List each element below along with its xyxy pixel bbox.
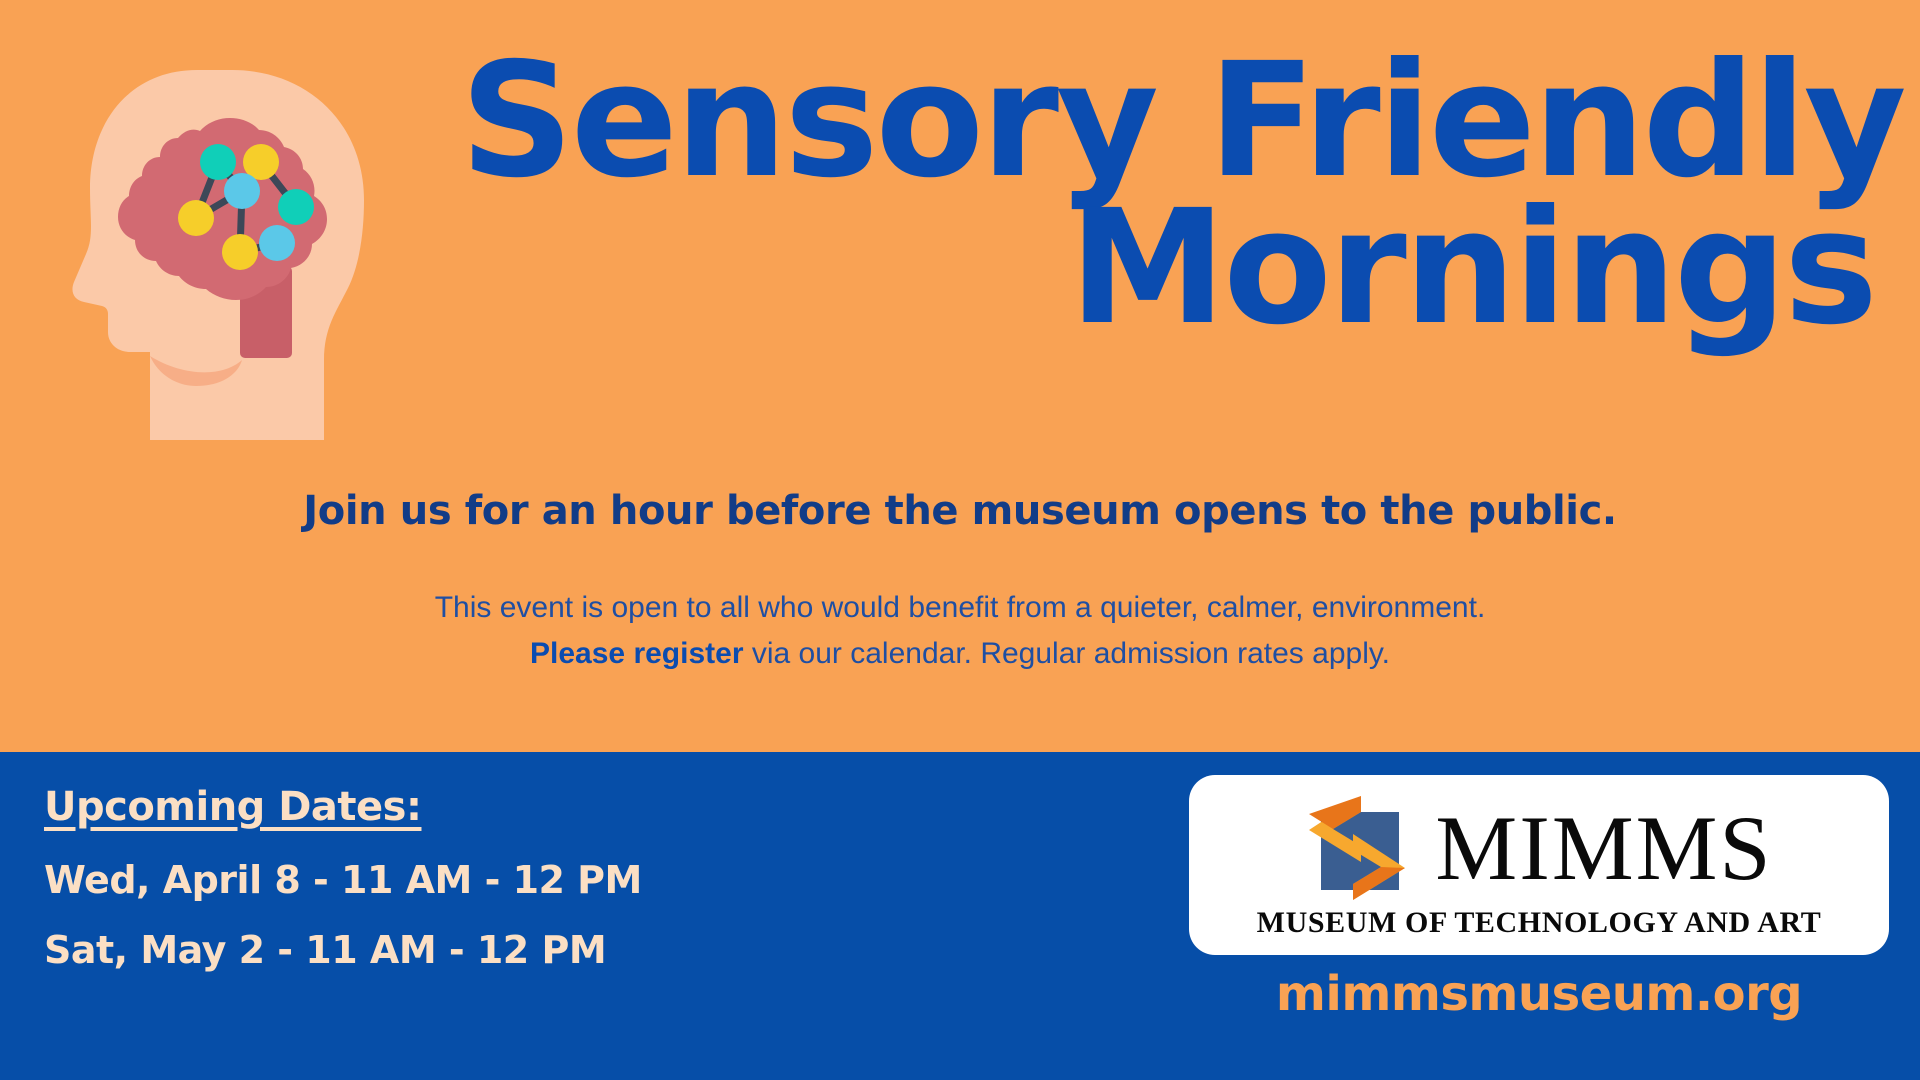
please-register-text: Please register bbox=[530, 637, 743, 670]
mimms-wordmark: MIMMS bbox=[1435, 802, 1772, 894]
body-line-one: This event is open to all who would bene… bbox=[0, 585, 1920, 631]
title-line-two: Mornings bbox=[430, 195, 1885, 342]
date-row: Sat, May 2 - 11 AM - 12 PM bbox=[44, 928, 864, 972]
hero-section: Sensory Friendly Mornings Join us for an… bbox=[0, 0, 1920, 752]
date-row: Wed, April 8 - 11 AM - 12 PM bbox=[44, 858, 864, 902]
subtitle: Join us for an hour before the museum op… bbox=[0, 488, 1920, 534]
sensory-friendly-mornings-poster: Sensory Friendly Mornings Join us for an… bbox=[0, 0, 1920, 1080]
page-title: Sensory Friendly Mornings bbox=[430, 48, 1885, 342]
footer-section: Upcoming Dates: Wed, April 8 - 11 AM - 1… bbox=[0, 752, 1920, 1080]
upcoming-dates-heading: Upcoming Dates: bbox=[44, 784, 864, 830]
website-url[interactable]: mimmsmuseum.org bbox=[1189, 966, 1889, 1022]
mimms-logo-mark bbox=[1305, 796, 1409, 900]
registration-detail-text: via our calendar. Regular admission rate… bbox=[744, 637, 1390, 670]
upcoming-dates-block: Upcoming Dates: Wed, April 8 - 11 AM - 1… bbox=[44, 784, 864, 998]
mimms-tagline: MUSEUM OF TECHNOLOGY AND ART bbox=[1257, 906, 1822, 940]
body-line-two: Please register via our calendar. Regula… bbox=[0, 631, 1920, 677]
mimms-logo-card: MIMMS MUSEUM OF TECHNOLOGY AND ART bbox=[1189, 775, 1889, 955]
logo-row: MIMMS bbox=[1305, 796, 1772, 900]
title-line-one: Sensory Friendly bbox=[430, 48, 1885, 195]
brain-head-icon bbox=[72, 60, 372, 440]
body-copy: This event is open to all who would bene… bbox=[0, 585, 1920, 676]
